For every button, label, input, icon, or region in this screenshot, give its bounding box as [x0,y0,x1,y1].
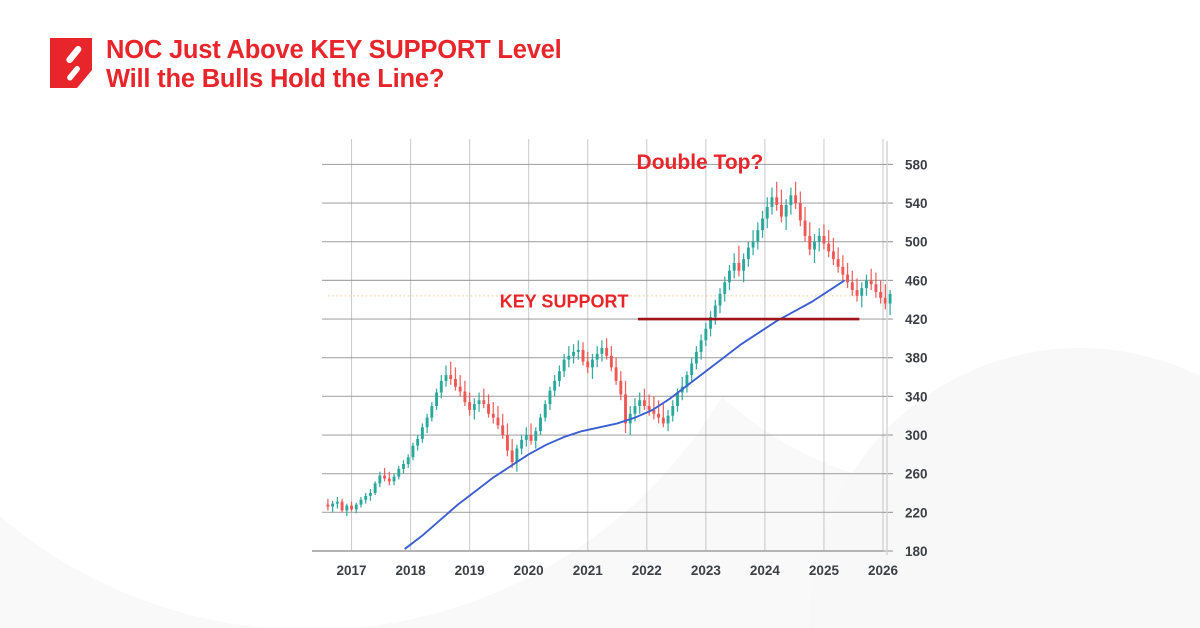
headline-line-2: Will the Bulls Hold the Line? [106,65,562,94]
svg-text:2021: 2021 [573,563,604,578]
svg-text:220: 220 [905,505,928,520]
svg-text:2018: 2018 [396,563,427,578]
svg-text:460: 460 [905,273,928,288]
svg-text:KEY SUPPORT: KEY SUPPORT [500,291,629,311]
header: NOC Just Above KEY SUPPORT Level Will th… [50,36,562,93]
svg-text:260: 260 [905,467,928,482]
candlestick-series [326,182,891,516]
stockcharts-square-logo-icon [50,38,92,88]
svg-text:Double Top?: Double Top? [637,151,764,174]
y-axis-labels: 580540500460420380340300260220180 [883,141,928,559]
svg-text:2022: 2022 [632,563,662,578]
svg-text:340: 340 [905,389,928,404]
svg-text:2017: 2017 [337,563,367,578]
svg-text:2024: 2024 [750,563,781,578]
svg-text:2025: 2025 [809,563,840,578]
svg-text:2023: 2023 [691,563,722,578]
page-title: NOC Just Above KEY SUPPORT Level Will th… [106,36,562,93]
svg-text:420: 420 [905,312,928,327]
price-chart: 580540500460420380340300260220180 201720… [0,0,1200,628]
svg-text:180: 180 [905,544,928,559]
headline-line-1: NOC Just Above KEY SUPPORT Level [106,36,562,65]
svg-text:580: 580 [905,157,928,172]
svg-text:2019: 2019 [455,563,485,578]
x-axis-labels: 2017201820192020202120222023202420252026 [337,563,899,578]
svg-text:540: 540 [905,196,928,211]
svg-text:300: 300 [905,428,928,443]
svg-text:2026: 2026 [868,563,899,578]
svg-text:500: 500 [905,235,928,250]
svg-text:2020: 2020 [514,563,544,578]
svg-text:380: 380 [905,351,928,366]
chart-grid [312,139,883,551]
